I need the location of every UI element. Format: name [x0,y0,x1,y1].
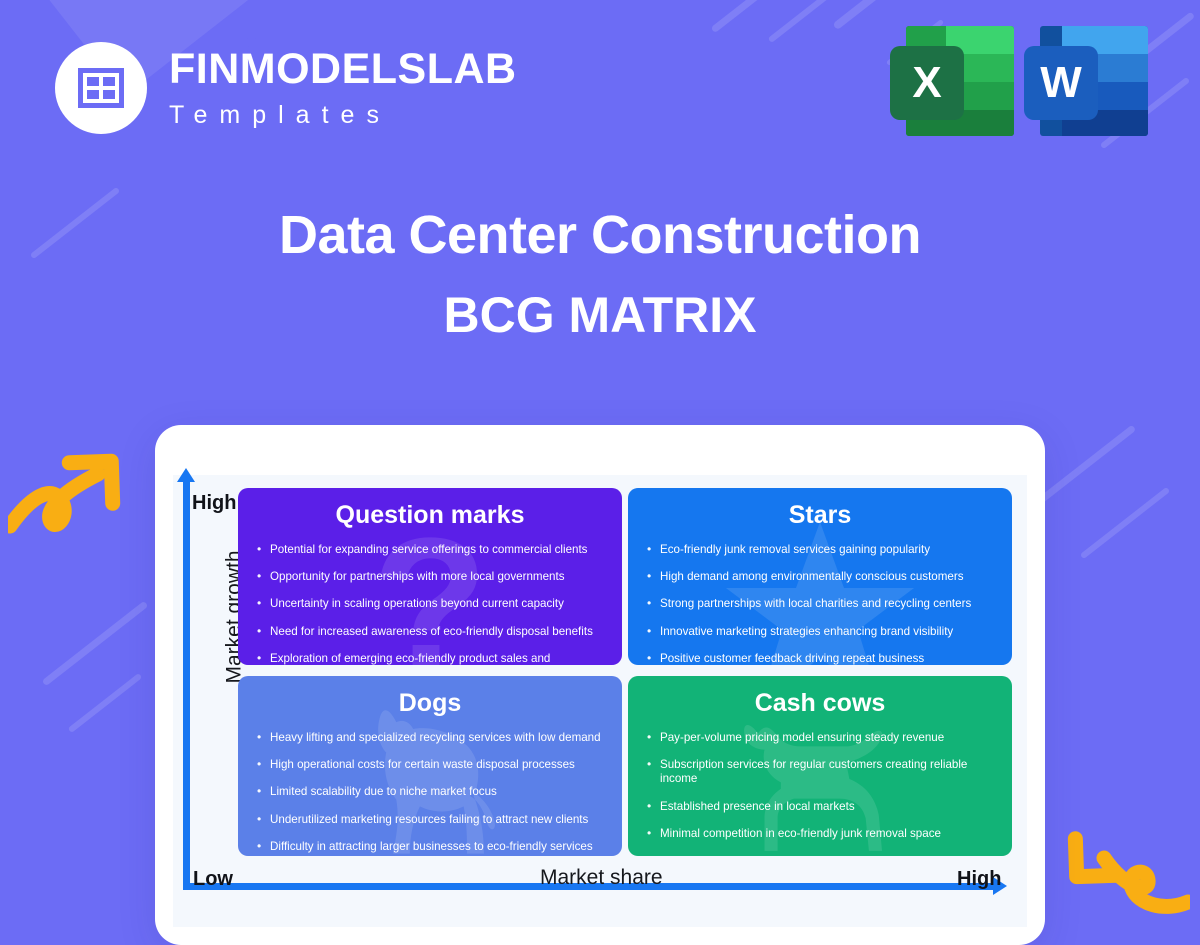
list-item: Eco-friendly junk removal services gaini… [644,543,996,557]
list-item: Difficulty in attracting larger business… [254,840,606,854]
x-axis-high-tick: High [957,868,1001,891]
brush-stroke [1080,487,1170,559]
y-axis-arrow-icon [177,468,195,482]
x-axis-label: Market share [540,866,663,890]
y-axis-line [183,478,190,890]
list-item: Underutilized marketing resources failin… [254,813,606,827]
list-item: High operational costs for certain waste… [254,758,606,772]
list-item: Positive customer feedback driving repea… [644,652,996,665]
list-item: Opportunity for partnerships with more l… [254,570,606,584]
brand-subtitle: Templates [169,103,517,128]
brand-name: FINMODELSLAB [169,48,517,91]
list-item: Limited scalability due to niche market … [254,785,606,799]
brand-logo[interactable]: FINMODELSLAB Templates [55,42,517,134]
list-item: Established presence in local markets [644,800,996,814]
quadrant-title: Dogs [254,690,606,718]
excel-letter: X [890,46,964,120]
title-line-1: Data Center Construction [0,205,1200,265]
page-header: FINMODELSLAB Templates X [0,0,1200,160]
list-item: Potential for expanding service offering… [254,543,606,557]
x-axis-low-tick: Low [193,868,233,891]
word-icon[interactable]: W [1040,26,1148,136]
word-letter: W [1024,46,1098,120]
list-item: Innovative marketing strategies enhancin… [644,625,996,639]
brush-stroke [68,673,143,733]
list-item: Minimal competition in eco-friendly junk… [644,827,996,841]
y-axis-high-tick: High [192,492,236,515]
quadrant-title: Question marks [254,502,606,530]
grid-logo-icon [55,42,147,134]
squiggle-arrow-down-left-icon [1060,818,1190,923]
title-line-2: BCG MATRIX [0,287,1200,343]
logo-accent-dot [244,37,259,52]
list-item: Strong partnerships with local charities… [644,597,996,611]
quadrant-question-marks[interactable]: ? Question marks Potential for expanding… [238,488,622,665]
page-title: Data Center Construction BCG MATRIX [0,205,1200,343]
list-item: Heavy lifting and specialized recycling … [254,731,606,745]
list-item: Need for increased awareness of eco-frie… [254,625,606,639]
list-item: Subscription services for regular custom… [644,758,996,787]
quadrant-stars[interactable]: Stars Eco-friendly junk removal services… [628,488,1012,665]
excel-icon[interactable]: X [906,26,1014,136]
list-item: Pay-per-volume pricing model ensuring st… [644,731,996,745]
list-item: High volume of repeat customers and refe… [644,855,996,856]
office-format-icons: X W [906,26,1148,136]
quadrant-item-list: Pay-per-volume pricing model ensuring st… [644,731,996,857]
list-item: High demand among environmentally consci… [644,570,996,584]
quadrant-item-list: Potential for expanding service offering… [254,543,606,666]
quadrant-item-list: Heavy lifting and specialized recycling … [254,731,606,855]
brush-stroke [42,601,149,687]
squiggle-arrow-up-right-icon [8,440,138,545]
quadrant-dogs[interactable]: Dogs Heavy lifting and specialized recyc… [238,676,622,856]
quadrant-item-list: Eco-friendly junk removal services gaini… [644,543,996,666]
quadrant-cash-cows[interactable]: Cash cows Pay-per-volume pricing model e… [628,676,1012,856]
list-item: Exploration of emerging eco-friendly pro… [254,652,606,665]
quadrant-title: Stars [644,502,996,530]
quadrant-title: Cash cows [644,690,996,718]
list-item: Uncertainty in scaling operations beyond… [254,597,606,611]
